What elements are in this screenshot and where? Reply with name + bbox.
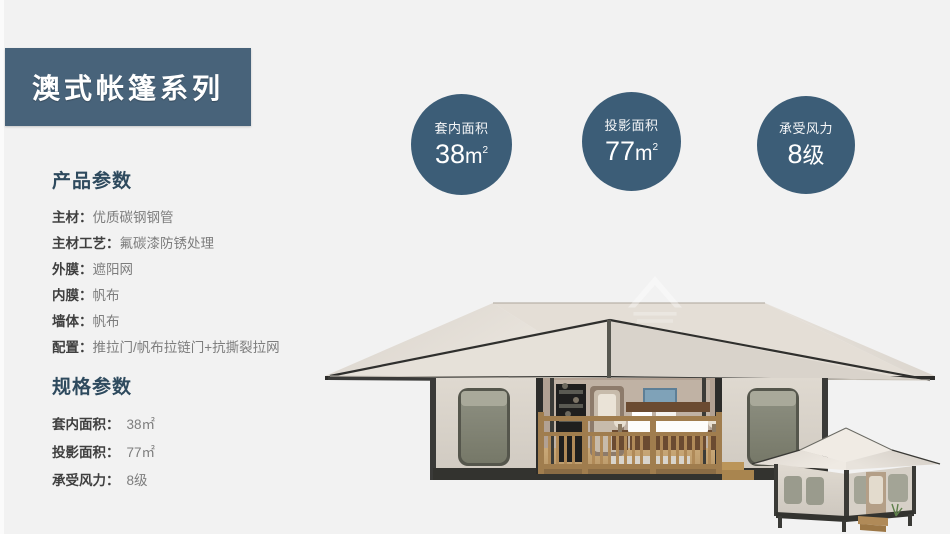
slide-canvas: 澳式帐篷系列 产品参数 主材：优质碳钢钢管 主材工艺：氟碳漆防锈处理 外膜：遮阳…: [0, 0, 950, 534]
list-item: 套内面积：38㎡: [52, 411, 352, 439]
stat-value-number: 8: [787, 139, 802, 169]
product-parameters-heading: 产品参数: [52, 166, 352, 193]
stat-badge-value: 38m2: [435, 141, 488, 168]
param-label: 配置：: [52, 340, 93, 355]
param-label: 外膜：: [52, 262, 93, 277]
title-banner-text: 澳式帐篷系列: [32, 67, 224, 107]
param-label: 墙体：: [52, 314, 93, 329]
spec-label: 承受风力：: [52, 473, 120, 488]
stat-value-sup: 2: [652, 142, 658, 153]
list-item: 投影面积：77㎡: [52, 439, 352, 467]
secondary-tent-roof: [752, 428, 940, 470]
spec-parameters-panel: 规格参数 套内面积：38㎡ 投影面积：77㎡ 承受风力：8级: [52, 372, 352, 495]
param-value: 氟碳漆防锈处理: [120, 236, 215, 251]
spec-label: 投影面积：: [52, 445, 120, 460]
param-value: 优质碳钢钢管: [93, 210, 174, 225]
param-label: 内膜：: [52, 288, 93, 303]
stat-badge-projected-area: 投影面积 77m2: [582, 92, 681, 191]
list-item: 主材工艺：氟碳漆防锈处理: [52, 231, 352, 257]
stat-value-unit: 级: [803, 143, 825, 168]
list-item: 外膜：遮阳网: [52, 257, 352, 283]
stat-badge-label: 投影面积: [604, 119, 658, 132]
param-value: 推拉门/帆布拉链门+抗撕裂拉网: [93, 340, 280, 355]
stat-badge-label: 套内面积: [434, 122, 488, 135]
param-value: 帆布: [93, 288, 120, 303]
list-item: 主材：优质碳钢钢管: [52, 205, 352, 231]
spec-parameters-heading: 规格参数: [52, 372, 352, 399]
param-label: 主材：: [52, 210, 93, 225]
stat-value-unit: m: [465, 145, 483, 168]
param-value: 遮阳网: [93, 262, 134, 277]
list-item: 承受风力：8级: [52, 467, 352, 495]
product-parameters-list: 主材：优质碳钢钢管 主材工艺：氟碳漆防锈处理 外膜：遮阳网 内膜：帆布 墙体：帆…: [52, 205, 352, 361]
spec-label: 套内面积：: [52, 417, 120, 432]
page-edge-strip: [0, 0, 4, 534]
param-value: 帆布: [93, 314, 120, 329]
spec-value: 8级: [120, 473, 148, 488]
stat-badge-value: 77m2: [605, 138, 658, 165]
param-label: 主材工艺：: [52, 236, 120, 251]
title-banner: 澳式帐篷系列: [5, 48, 251, 126]
stat-value-unit: m: [635, 142, 653, 165]
list-item: 内膜：帆布: [52, 283, 352, 309]
spec-value: 38㎡: [120, 417, 156, 432]
spec-value: 77㎡: [120, 445, 156, 460]
stat-value-number: 38: [435, 139, 465, 169]
stat-badge-label: 承受风力: [779, 122, 833, 135]
tent-window-left: [458, 388, 510, 466]
secondary-tent-image: [742, 418, 950, 534]
tent-center-mast: [607, 320, 611, 386]
stat-value-number: 77: [605, 136, 635, 166]
stat-badge-value: 8级: [787, 141, 824, 168]
list-item: 配置：推拉门/帆布拉链门+抗撕裂拉网: [52, 335, 352, 361]
list-item: 墙体：帆布: [52, 309, 352, 335]
product-parameters-panel: 产品参数 主材：优质碳钢钢管 主材工艺：氟碳漆防锈处理 外膜：遮阳网 内膜：帆布…: [52, 166, 352, 361]
stat-value-sup: 2: [482, 145, 488, 156]
secondary-tent-body: [774, 464, 916, 532]
spec-parameters-list: 套内面积：38㎡ 投影面积：77㎡ 承受风力：8级: [52, 411, 352, 495]
